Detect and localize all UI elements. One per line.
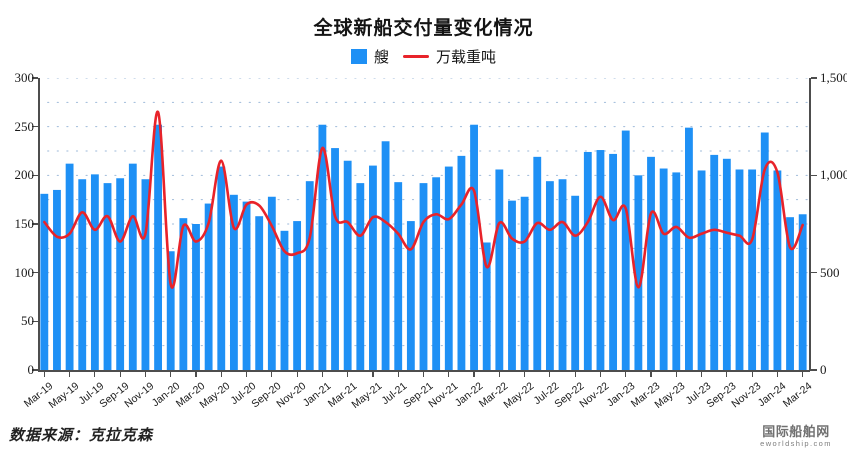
- y-axis-right: [809, 78, 811, 371]
- y-axis-tick-label: 300: [0, 70, 34, 86]
- x-axis-tick: [322, 371, 323, 377]
- x-axis-tick: [549, 371, 550, 377]
- x-axis-tick: [473, 371, 474, 377]
- y-axis-right-tick: [811, 369, 817, 370]
- x-axis-tick: [524, 371, 525, 377]
- legend-item-line[interactable]: 万载重吨: [403, 46, 496, 67]
- watermark: 国际船舶网 eworldship.com: [752, 425, 840, 448]
- x-axis-tick: [701, 371, 702, 377]
- x-axis-tick: [246, 371, 247, 377]
- x-axis-tick: [170, 371, 171, 377]
- y-axis-right-tick-label: 1,000: [820, 167, 847, 183]
- x-axis-tick: [372, 371, 373, 377]
- chart-series: [38, 78, 809, 370]
- x-axis-tick: [120, 371, 121, 377]
- x-axis-tick: [398, 371, 399, 377]
- legend-bar-swatch-icon: [351, 49, 367, 64]
- x-axis-tick: [625, 371, 626, 377]
- y-axis-tick-label: 100: [0, 265, 34, 281]
- x-axis-tick: [271, 371, 272, 377]
- x-axis-tick: [94, 371, 95, 377]
- watermark-en-text: eworldship.com: [752, 439, 840, 448]
- x-axis-tick: [423, 371, 424, 377]
- y-axis-right-tick-label: 500: [820, 265, 847, 281]
- y-axis-right-tick-label: 1,500: [820, 70, 847, 86]
- x-axis-tick: [752, 371, 753, 377]
- x-axis-tick: [726, 371, 727, 377]
- watermark-cn-text: 国际船舶网: [752, 425, 840, 439]
- x-axis-tick: [777, 371, 778, 377]
- x-axis-tick: [676, 371, 677, 377]
- page-title: 全球新船交付量变化情况: [0, 13, 847, 40]
- x-axis-tick: [600, 371, 601, 377]
- chart-plot-area: [38, 78, 809, 370]
- y-axis-right-tick-label: 0: [820, 362, 847, 378]
- y-axis-tick-label: 0: [0, 362, 34, 378]
- y-axis-tick-label: 250: [0, 119, 34, 135]
- legend-item-bar[interactable]: 艘: [351, 46, 389, 67]
- x-axis-tick: [448, 371, 449, 377]
- legend-line-swatch-icon: [403, 55, 429, 58]
- y-axis-right-tick: [811, 272, 817, 273]
- source-note: 数据来源：克拉克森: [9, 424, 153, 445]
- legend-item-bar-label: 艘: [374, 46, 389, 67]
- x-axis-tick: [195, 371, 196, 377]
- x-axis-tick: [145, 371, 146, 377]
- y-axis-right-tick: [811, 175, 817, 176]
- x-axis-tick: [650, 371, 651, 377]
- x-axis-tick: [221, 371, 222, 377]
- x-axis-tick: [44, 371, 45, 377]
- x-axis-tick: [69, 371, 70, 377]
- y-axis-tick-label: 150: [0, 216, 34, 232]
- x-axis-tick: [297, 371, 298, 377]
- legend-item-line-label: 万载重吨: [436, 46, 496, 67]
- y-axis-right-tick: [811, 77, 817, 78]
- y-axis-left: [38, 78, 40, 371]
- x-axis-tick: [575, 371, 576, 377]
- chart-legend: 艘 万载重吨: [0, 46, 847, 67]
- y-axis-tick-label: 200: [0, 167, 34, 183]
- x-axis-tick: [347, 371, 348, 377]
- x-axis-tick: [499, 371, 500, 377]
- y-axis-tick-label: 50: [0, 313, 34, 329]
- x-axis-tick: [802, 371, 803, 377]
